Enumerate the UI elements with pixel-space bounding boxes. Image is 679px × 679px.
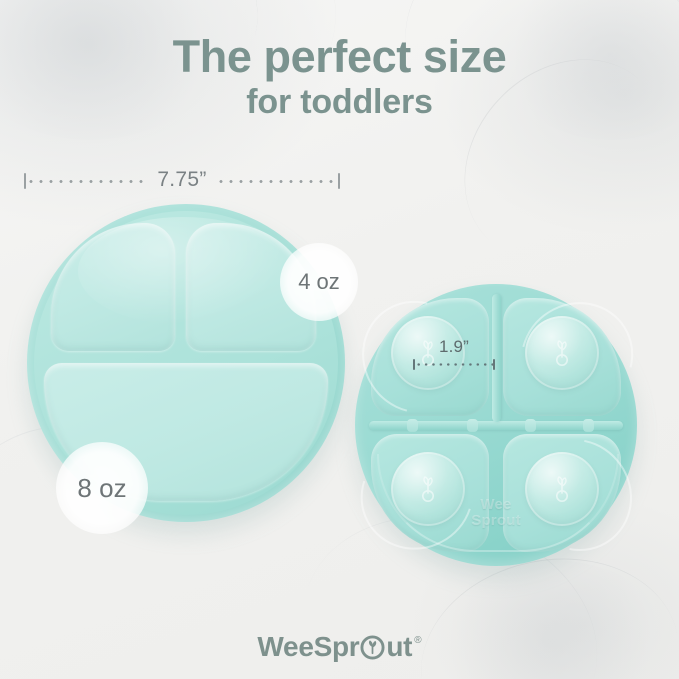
- sprout-icon: [549, 474, 575, 504]
- registered-trademark: ®: [414, 635, 421, 646]
- ridge-nub: [407, 419, 418, 432]
- compartment-top-left: [51, 223, 175, 351]
- ridge-nub: [525, 419, 536, 432]
- title-line-1: The perfect size: [0, 34, 679, 80]
- dimension-end-cap-right: [493, 359, 495, 370]
- page-title: The perfect size for toddlers: [0, 34, 679, 126]
- suction-cup-icon: [525, 452, 599, 526]
- plate-width-label: 7.75”: [148, 168, 215, 192]
- marble-blotch: [430, 560, 670, 679]
- ridge-nub: [467, 419, 478, 432]
- capacity-badge-8oz-label: 8 oz: [77, 473, 126, 504]
- dimension-end-cap-right: [338, 173, 340, 189]
- capacity-badge-4oz: 4 oz: [280, 243, 358, 321]
- suction-cup-width-dimension: 1.9”: [413, 338, 495, 370]
- ridge-nub: [583, 419, 594, 432]
- sprout-logo-icon: [360, 635, 385, 660]
- title-line-2: for toddlers: [0, 80, 679, 126]
- suction-cup-icon: [525, 316, 599, 390]
- brand-name-tail: ut: [386, 633, 412, 661]
- suction-cup-width-label: 1.9”: [413, 338, 495, 355]
- suction-cup-dimension-rule: [413, 358, 495, 370]
- divided-plate-back-view: Wee Sprout: [355, 284, 637, 566]
- brand-logo: WeeSpr ut ®: [0, 633, 679, 661]
- brand-name: WeeSpr: [257, 633, 359, 661]
- capacity-badge-4oz-label: 4 oz: [298, 269, 340, 295]
- sprout-icon: [415, 474, 441, 504]
- sprout-icon: [549, 338, 575, 368]
- product-infographic: The perfect size for toddlers 7.75”: [0, 0, 679, 679]
- capacity-badge-8oz: 8 oz: [56, 442, 148, 534]
- dimension-dotted-line: [415, 363, 493, 366]
- plate-width-dimension: 7.75”: [24, 170, 340, 192]
- suction-cup-icon: [391, 452, 465, 526]
- dimension-dotted-line-right: [216, 180, 338, 183]
- dimension-dotted-line-left: [26, 180, 148, 183]
